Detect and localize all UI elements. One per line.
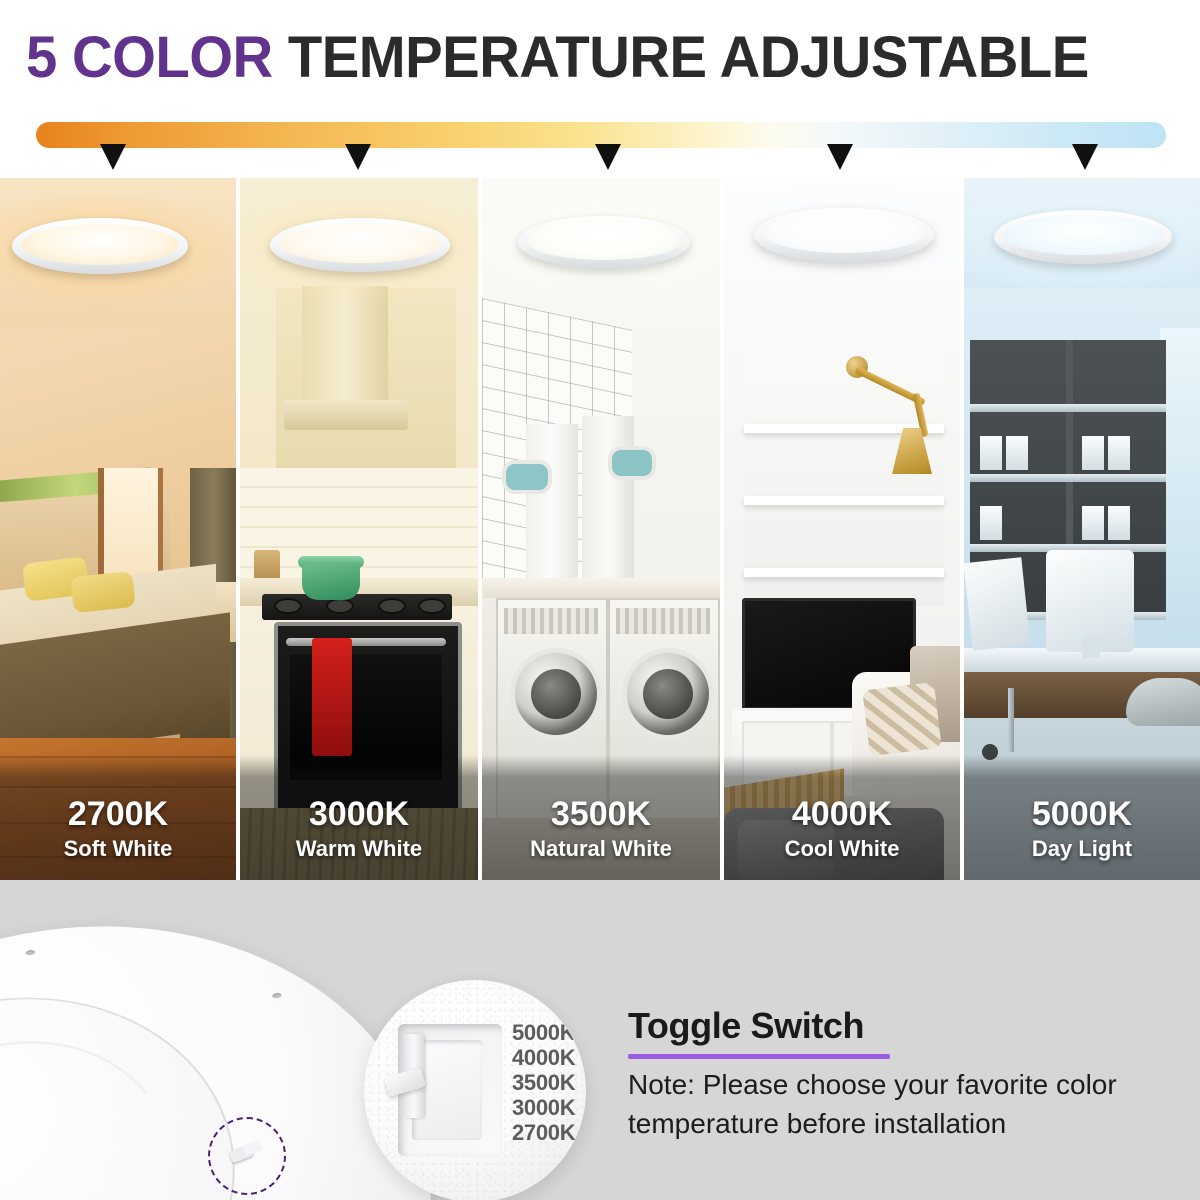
scene-panel-2700k: 2700K Soft White: [0, 178, 236, 880]
title-highlight: 5 COLOR: [26, 25, 273, 90]
scene-panel-3500k: 3500K Natural White: [482, 178, 720, 880]
heading-underline: [628, 1054, 890, 1059]
kelvin-value: 5000K: [964, 794, 1200, 834]
ceiling-light-fixture: [994, 210, 1172, 264]
switch-option-5000k[interactable]: 5000K: [512, 1020, 586, 1045]
temperature-label-group: 4000K Cool White: [724, 794, 960, 864]
marker-arrow-2700k: [100, 144, 126, 174]
kelvin-name: Cool White: [724, 834, 960, 864]
kelvin-value: 3500K: [482, 794, 720, 834]
switch-option-3000k[interactable]: 3000K: [512, 1095, 586, 1120]
switch-magnifier-callout: 5000K 4000K 3500K 3000K 2700K: [364, 980, 586, 1200]
note-line-2: temperature before installation: [628, 1104, 1168, 1143]
scene-panel-3000k: 3000K Warm White: [240, 178, 478, 880]
note-line-1: Note: Please choose your favorite color: [628, 1065, 1168, 1104]
header: 5 COLOR TEMPERATURE ADJUSTABLE: [0, 0, 1200, 178]
kelvin-name: Warm White: [240, 834, 478, 864]
marker-arrow-4000k: [827, 144, 853, 174]
marker-arrow-3500k: [595, 144, 621, 174]
page-title: 5 COLOR TEMPERATURE ADJUSTABLE: [26, 26, 1151, 90]
switch-option-2700k[interactable]: 2700K: [512, 1120, 586, 1145]
ceiling-light-fixture: [518, 216, 690, 268]
switch-highlight-circle: [208, 1117, 286, 1195]
switch-options-list: 5000K 4000K 3500K 3000K 2700K: [512, 1020, 586, 1145]
ceiling-light-fixture: [754, 208, 934, 262]
kelvin-value: 2700K: [0, 794, 236, 834]
scene-panel-4000k: 4000K Cool White: [724, 178, 960, 880]
switch-option-3500k[interactable]: 3500K: [512, 1070, 586, 1095]
kelvin-name: Natural White: [482, 834, 720, 864]
switch-lever[interactable]: [404, 1034, 424, 1118]
switch-option-4000k[interactable]: 4000K: [512, 1045, 586, 1070]
ceiling-light-fixture: [270, 218, 450, 272]
marker-arrow-5000k: [1072, 144, 1098, 174]
title-rest: TEMPERATURE ADJUSTABLE: [273, 25, 1089, 90]
product-infographic: 5 COLOR TEMPERATURE ADJUSTABLE: [0, 0, 1200, 1200]
kelvin-value: 3000K: [240, 794, 478, 834]
installation-note: Note: Please choose your favorite color …: [628, 1065, 1168, 1143]
ceiling-light-fixture: [12, 218, 188, 274]
temperature-label-group: 2700K Soft White: [0, 794, 236, 864]
scene-panel-5000k: 5000K Day Light: [964, 178, 1200, 880]
temperature-label-group: 5000K Day Light: [964, 794, 1200, 864]
temperature-label-group: 3500K Natural White: [482, 794, 720, 864]
temperature-label-group: 3000K Warm White: [240, 794, 478, 864]
scene-comparison-strip: 2700K Soft White: [0, 178, 1200, 880]
kelvin-value: 4000K: [724, 794, 960, 834]
kelvin-name: Soft White: [0, 834, 236, 864]
marker-arrow-3000k: [345, 144, 371, 174]
kelvin-name: Day Light: [964, 834, 1200, 864]
toggle-switch-heading: Toggle Switch: [628, 1005, 864, 1047]
